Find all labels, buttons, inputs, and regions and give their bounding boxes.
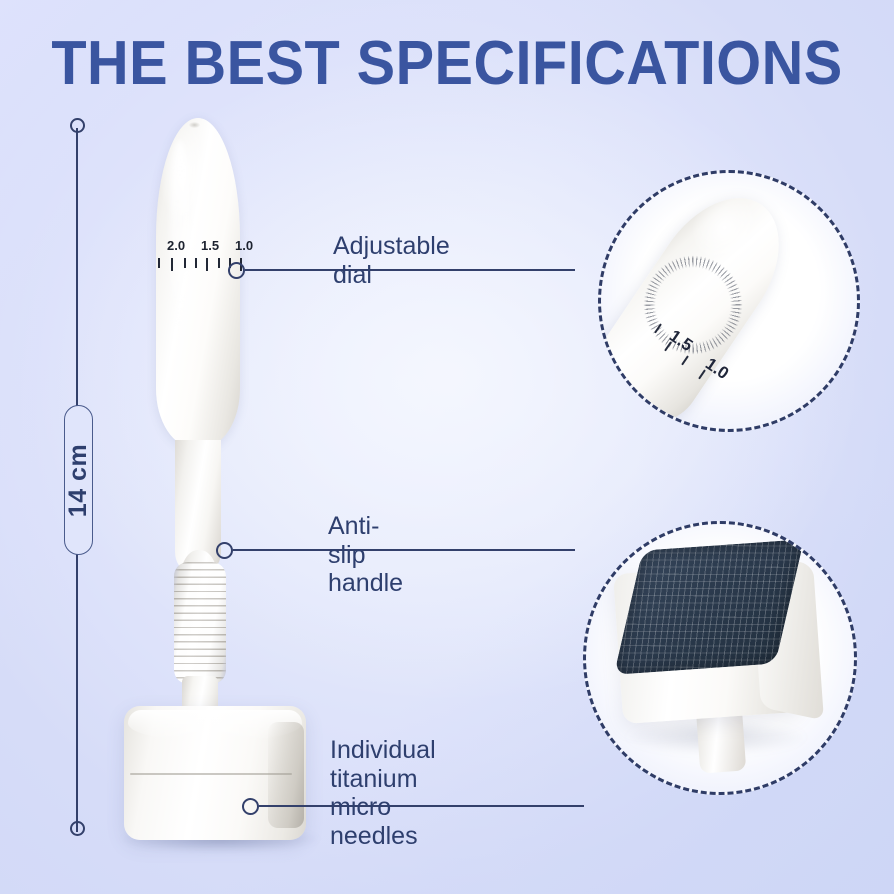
- inset-dial-closeup: 1.5 1.0: [598, 170, 860, 432]
- adjustable-dial-label: Adjustable dial: [333, 232, 450, 289]
- product-dial-head: [156, 118, 240, 448]
- dial-tick: [184, 258, 186, 268]
- dial-tick: [218, 258, 220, 268]
- inset-needle-pad: [614, 539, 804, 675]
- micro-needles-connector-icon: [242, 798, 259, 815]
- product-base-side-shading: [268, 722, 304, 828]
- dial-tick: [158, 258, 160, 268]
- dial-tick: [206, 258, 208, 271]
- product-illustration: 2.0 1.5 1.0: [118, 110, 318, 850]
- anti-slip-handle-connector-icon: [216, 542, 233, 559]
- micro-needles-label: Individual titanium micro needles: [330, 736, 436, 850]
- adjustable-dial-connector-icon: [228, 262, 245, 279]
- specifications-poster: THE BEST SPECIFICATIONS 14 cm 2.0 1.5 1.…: [0, 0, 894, 894]
- height-measurement: 14 cm: [70, 118, 88, 842]
- dial-scale-label-2-0: 2.0: [167, 238, 185, 253]
- product-grip-shading: [174, 562, 226, 684]
- dial-scale-label-1-0: 1.0: [235, 238, 253, 253]
- page-title: THE BEST SPECIFICATIONS: [31, 33, 862, 95]
- product-dial-tip: [189, 122, 200, 128]
- measurement-bottom-endpoint-icon: [70, 821, 85, 836]
- dial-tick: [171, 258, 173, 271]
- anti-slip-handle-leader-line: [233, 549, 575, 551]
- measurement-value-badge: 14 cm: [64, 405, 93, 555]
- anti-slip-handle-label: Anti-slip handle: [328, 512, 403, 598]
- dial-scale-label-1-5: 1.5: [201, 238, 219, 253]
- dial-tick: [195, 258, 197, 268]
- measurement-value-label: 14 cm: [64, 443, 93, 516]
- inset-needle-head-closeup: [583, 521, 857, 795]
- product-base-seam: [130, 773, 292, 775]
